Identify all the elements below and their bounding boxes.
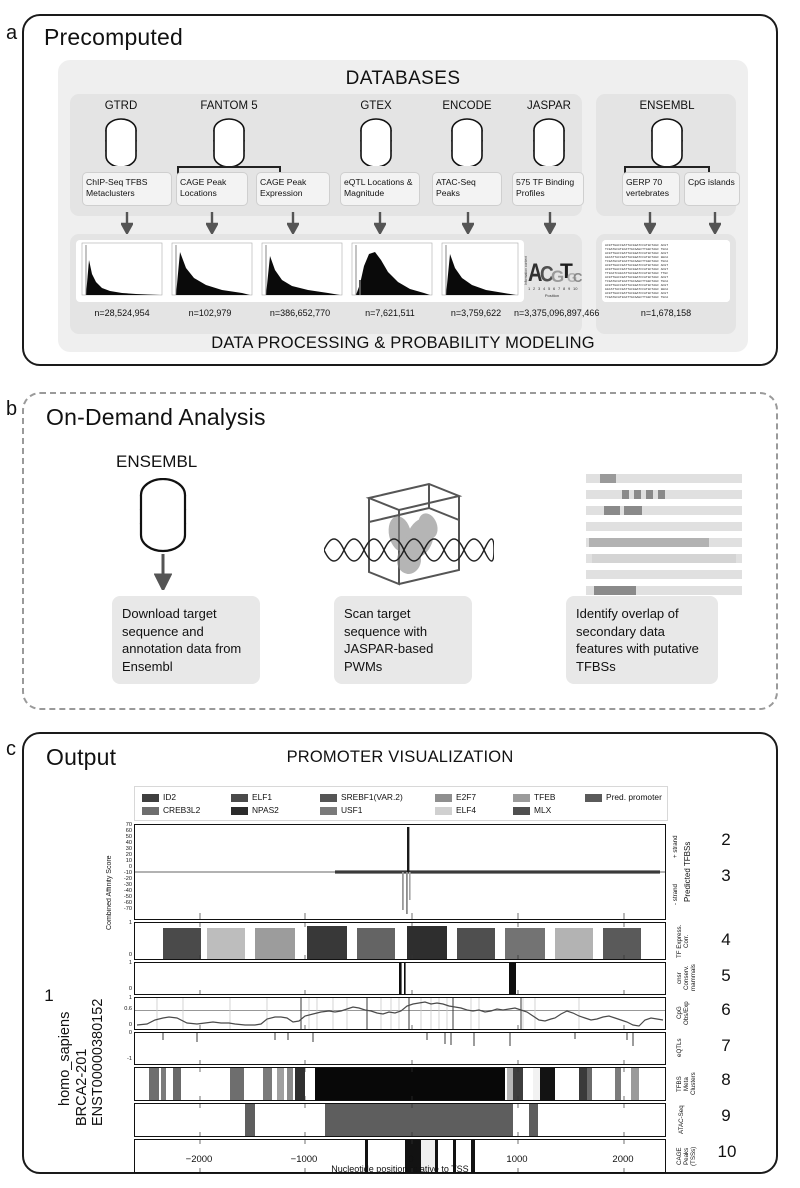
dataset-cage-peak-expression: CAGE Peak Expression: [256, 172, 330, 206]
legend-swatch-creb3l2: [142, 807, 159, 815]
track-group-label-predicted-tfbss: Predicted TFBSs: [684, 826, 694, 918]
database-cylinder-jaspar: [529, 118, 569, 166]
track-label-eqtls: eQTLs: [676, 1034, 686, 1062]
dataset-gerp-70-vertebrates: GERP 70 vertebrates: [622, 172, 680, 206]
legend-swatch-srebf1: [320, 794, 337, 802]
cpg-ytick-0-6: 0.6: [112, 1006, 132, 1012]
legend-swatch-tfeb: [513, 794, 530, 802]
alignment-thumbnail: ACGTTGACCGATTACGGATCCATGCTAGC ACGT TCGAT…: [602, 240, 730, 302]
legend-item-id2: ID2: [142, 792, 176, 802]
track-tfbs-metaclusters[interactable]: [134, 1067, 666, 1101]
x-axis-label: Nucleotide position relative to TSS: [24, 1164, 776, 1174]
affinity-score-axis-label: Combined Affinity Score: [106, 830, 113, 930]
legend-swatch-pred-promoter: [585, 794, 602, 802]
legend-swatch-mlx: [513, 807, 530, 815]
bracket-ensembl: [624, 166, 710, 168]
db-name-jaspar: JASPAR: [516, 100, 582, 112]
track-number-3: 3: [714, 866, 738, 886]
conserv-ytick-1: 1: [116, 960, 132, 966]
plot-thumbnails-strip: [76, 240, 524, 302]
legend: ID2 CREB3L2 ELF1 NPAS2 SREBF1(VAR.2) USF…: [134, 786, 668, 821]
db-name-fantom5: FANTOM 5: [177, 100, 281, 112]
legend-item-elf1: ELF1: [231, 792, 272, 802]
pwm-scan-illustration: [324, 476, 494, 596]
tf-expr-ytick-0: 0: [116, 952, 132, 958]
legend-item-elf4: ELF4: [435, 805, 476, 815]
cpg-ytick-0: 0: [112, 1022, 132, 1028]
cpg-ytick-1: 1: [112, 995, 132, 1001]
track-tf-expression-corr[interactable]: [134, 922, 666, 960]
panel-a-letter: a: [6, 22, 17, 45]
arrow-down-icon-cage-loc: [206, 212, 218, 234]
legend-item-usf1: USF1: [320, 805, 362, 815]
panel-b-title: On-Demand Analysis: [46, 404, 266, 431]
data-processing-header: DATA PROCESSING & PROBABILITY MODELING: [58, 334, 748, 353]
arrow-down-icon-atacseq: [462, 212, 474, 234]
db-name-gtex: GTEX: [339, 100, 413, 112]
track-number-10: 10: [712, 1142, 742, 1162]
arrow-down-icon-cpg: [709, 212, 721, 234]
ondemand-step-2: Scan target sequence with JASPAR-based P…: [334, 596, 472, 684]
count-atacseq: n=3,759,622: [432, 308, 520, 318]
dataset-cpg-islands: CpG islands: [684, 172, 740, 206]
svg-text:4: 4: [543, 286, 546, 291]
track-label-conservation: cnsr Conserv. mammals: [676, 964, 692, 992]
count-jaspar: n=3,375,096,897,466: [514, 308, 594, 318]
legend-swatch-npas2: [231, 807, 248, 815]
panel-output: Output PROMOTER VISUALIZATION ID2 CREB3L…: [22, 732, 778, 1174]
panel-precomputed: Precomputed DATABASES GTRD FANTOM 5 GTEX…: [22, 14, 778, 366]
track-number-5: 5: [714, 966, 738, 986]
legend-item-pred-promoter: Pred. promoter: [585, 792, 662, 802]
panel-b-letter: b: [6, 398, 17, 421]
feature-overlap-illustration: [586, 474, 742, 599]
count-ensembl: n=1,678,158: [602, 308, 730, 318]
conserv-ytick-0: 0: [116, 986, 132, 992]
database-cylinder-gtex: [356, 118, 396, 166]
legend-swatch-elf4: [435, 807, 452, 815]
arrow-down-icon-eqtl: [374, 212, 386, 234]
db-name-ensembl: ENSEMBL: [624, 100, 710, 112]
svg-text:9: 9: [568, 286, 571, 291]
legend-swatch-e2f7: [435, 794, 452, 802]
affinity-y-ticks: 70 60 50 40 30 20 10 0 -10 -20 -30 -40 -…: [114, 824, 134, 920]
track-label-plus-strand: + strand: [672, 826, 681, 868]
track-eqtls[interactable]: [134, 1032, 666, 1065]
svg-text:5: 5: [548, 286, 551, 291]
svg-text:TCGATGCATGCATTGCAAGCTTAGCTAGC: TCGATGCATGCATTGCAAGCTTAGCTAGC TGCA: [605, 295, 668, 299]
database-cylinder-gtrd: [101, 118, 141, 166]
svg-text:8: 8: [563, 286, 566, 291]
arrow-down-icon-gtrd: [121, 212, 133, 234]
dataset-cage-peak-locations: CAGE Peak Locations: [176, 172, 248, 206]
svg-text:Position: Position: [545, 293, 559, 298]
track-label-minus-strand: - strand: [672, 874, 681, 916]
bracket-fantom5: [177, 166, 281, 168]
species-label: homo_sapiens: [57, 946, 73, 1106]
track-number-2: 2: [714, 830, 738, 850]
track-label-tfbs-metaclusters: TFBS Meta Clusters: [676, 1069, 692, 1099]
svg-text:10: 10: [573, 286, 578, 291]
track-number-4: 4: [714, 930, 738, 950]
legend-item-e2f7: E2F7: [435, 792, 476, 802]
db-name-encode: ENCODE: [428, 100, 506, 112]
arrow-down-icon-gerp: [644, 212, 656, 234]
track-label-tf-express-corr: TF Express. Corr.: [676, 924, 692, 958]
panel-c-letter: c: [6, 738, 16, 761]
track-label-atac-seq: ATAC-Seq: [678, 1105, 688, 1135]
arrow-down-icon-ondemand: [154, 554, 172, 590]
databases-header: DATABASES: [58, 68, 748, 90]
legend-item-npas2: NPAS2: [231, 805, 279, 815]
eqtl-ytick-neg1: -1: [112, 1056, 132, 1062]
count-cage-loc: n=102,979: [168, 308, 252, 318]
legend-item-tfeb: TFEB: [513, 792, 555, 802]
ondemand-step-3: Identify overlap of secondary data featu…: [566, 596, 718, 684]
count-eqtl: n=7,621,511: [348, 308, 432, 318]
track-number-9: 9: [714, 1106, 738, 1126]
db-name-gtrd: GTRD: [84, 100, 158, 112]
track-number-8: 8: [714, 1070, 738, 1090]
track-label-cpg-obs-exp: CpG Obs/Exp: [676, 998, 692, 1028]
arrow-down-icon-cage-expr: [287, 212, 299, 234]
svg-text:C: C: [573, 270, 582, 285]
count-chipseq: n=28,524,954: [76, 308, 168, 318]
legend-swatch-usf1: [320, 807, 337, 815]
sequence-logo: A C G T G C 123 456 78910 Position Infor…: [524, 240, 582, 302]
legend-swatch-id2: [142, 794, 159, 802]
legend-item-creb3l2: CREB3L2: [142, 805, 200, 815]
svg-text:7: 7: [558, 286, 561, 291]
track-number-7: 7: [714, 1036, 738, 1056]
dataset-chipseq-tfbs-metaclusters: ChIP-Seq TFBS Metaclusters: [82, 172, 172, 206]
dataset-575-tf-binding-profiles: 575 TF Binding Profiles: [512, 172, 584, 206]
track-conservation[interactable]: [134, 962, 666, 995]
svg-text:6: 6: [553, 286, 556, 291]
track-number-6: 6: [714, 1000, 738, 1020]
eqtl-ytick-0: 0: [116, 1030, 132, 1036]
legend-swatch-elf1: [231, 794, 248, 802]
promoter-visualization-title: PROMOTER VISUALIZATION: [24, 748, 776, 767]
ondemand-step-1: Download target sequence and annotation …: [112, 596, 260, 684]
database-cylinder-encode: [447, 118, 487, 166]
track-cpg-obs-exp[interactable]: [134, 997, 666, 1030]
database-cylinder-ensembl: [647, 118, 687, 166]
ondemand-ensembl-label: ENSEMBL: [116, 452, 197, 472]
dataset-eqtl-locations-magnitude: eQTL Locations & Magnitude: [340, 172, 420, 206]
track-atac-seq[interactable]: [134, 1103, 666, 1137]
legend-item-srebf1: SREBF1(VAR.2): [320, 792, 403, 802]
dataset-atacseq-peaks: ATAC-Seq Peaks: [432, 172, 502, 206]
track-predicted-tfbs[interactable]: [134, 824, 666, 920]
database-cylinder-ondemand-ensembl: [134, 478, 192, 556]
legend-item-mlx: MLX: [513, 805, 551, 815]
panel-a-title: Precomputed: [44, 24, 183, 51]
svg-text:Information content: Information content: [524, 256, 528, 285]
count-cage-expr: n=386,652,770: [252, 308, 348, 318]
transcript-label: BRCA2-201 ENST00000380152: [74, 946, 106, 1126]
tf-expr-ytick-1: 1: [116, 920, 132, 926]
database-cylinder-fantom5: [209, 118, 249, 166]
panel-ondemand-analysis: On-Demand Analysis ENSEMBL: [22, 392, 778, 710]
arrow-down-icon-jaspar: [544, 212, 556, 234]
